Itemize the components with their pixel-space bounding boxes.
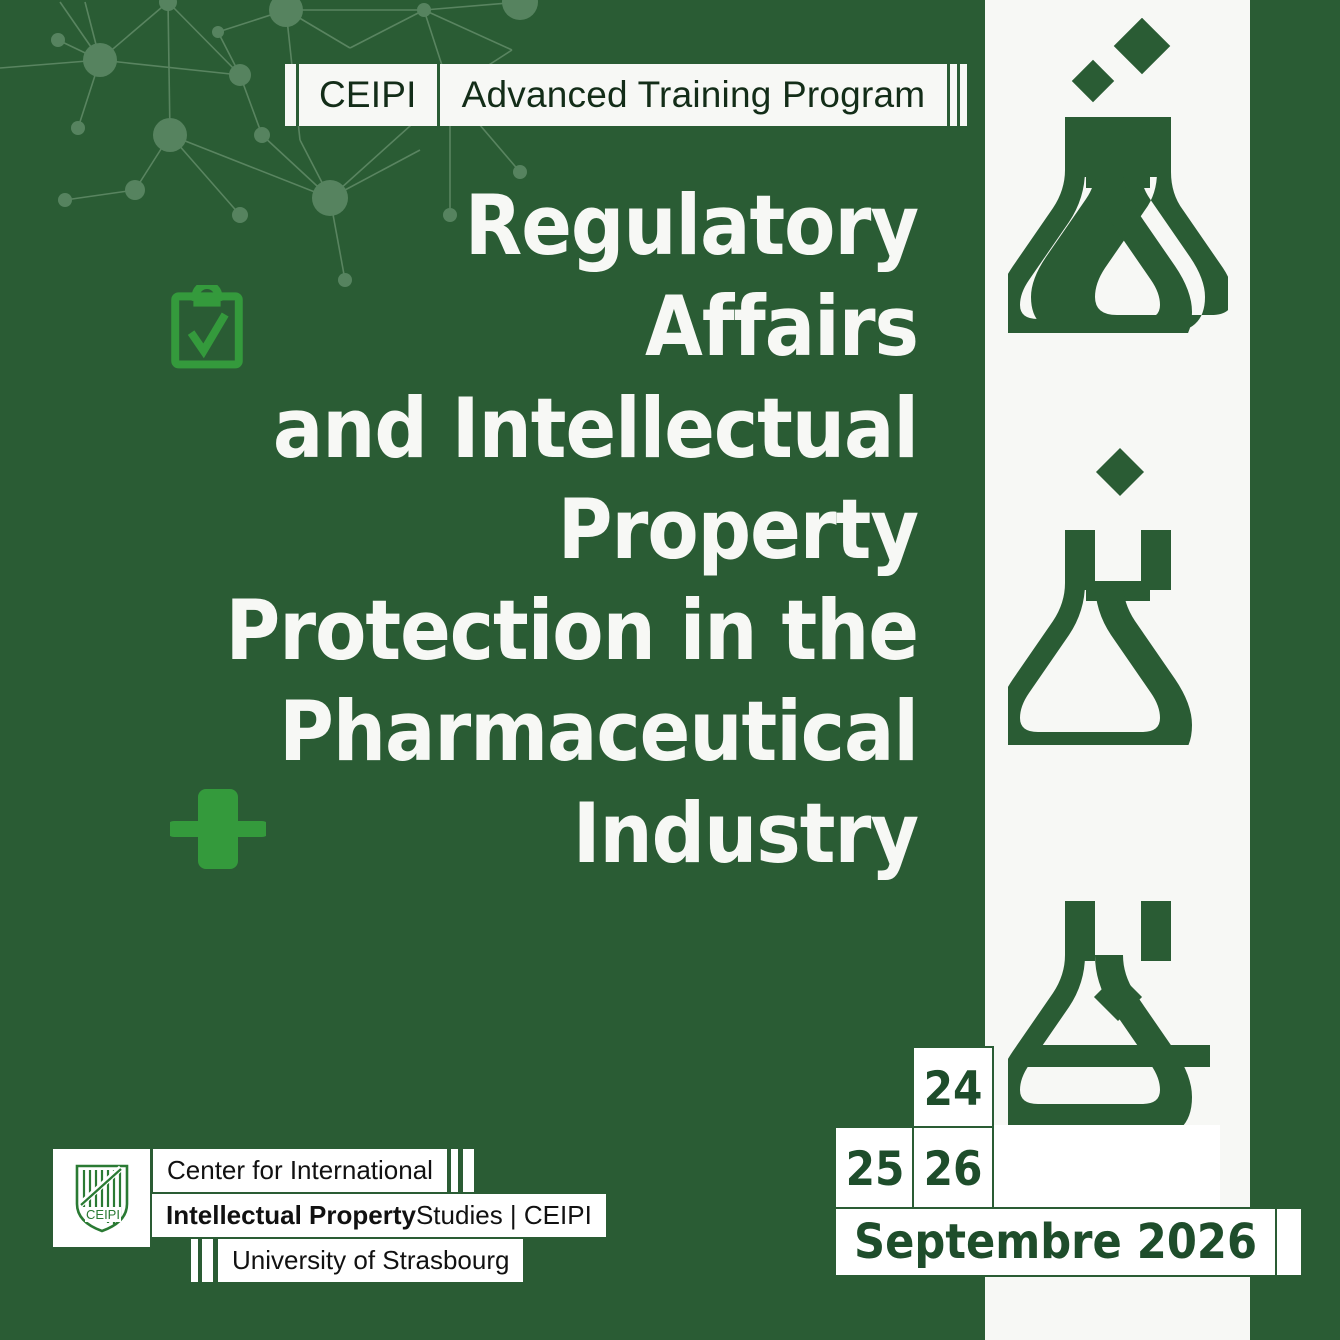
logo-row-3: University of Strasbourg [190,1238,607,1283]
logo-row1-strip-a [450,1148,459,1193]
title-line-7: Industry [573,783,918,884]
svg-text:CEIPI: CEIPI [86,1207,120,1222]
title-line-5: Protection in the [170,580,918,681]
title-line-2-row: Affairs [170,276,918,377]
flask-two-bubbles-icon [1008,18,1228,333]
date-day-26: 26 [912,1126,994,1212]
logo-row3-strip-a [190,1238,199,1283]
date-day-25: 25 [834,1126,916,1212]
logo-row-2: Intellectual Property Studies | CEIPI [151,1193,607,1238]
clipboard-check-icon [170,285,244,369]
date-day-24: 24 [912,1046,994,1132]
badge-right-strip-1 [950,64,957,126]
poster-canvas: CEIPI Advanced Training Program Regulato… [0,0,1340,1340]
title-line-1: Regulatory [170,175,918,276]
logo-row-1: Center for International [152,1148,607,1193]
medical-cross-icon [170,785,266,881]
title-line-2: Affairs [645,276,918,377]
date-month-row: Septembre 2026 [834,1207,1303,1277]
title-line-4: Property [170,479,918,580]
logo-line-university-of-strasbourg: University of Strasbourg [217,1238,524,1283]
header-badge: CEIPI Advanced Training Program [285,64,967,126]
logo-row3-strip-b [201,1238,214,1283]
badge-program-label: Advanced Training Program [440,64,948,126]
logo-row1-strip-b [462,1148,475,1193]
title-line-3: and Intellectual [170,378,918,479]
badge-org-label: CEIPI [299,64,437,126]
flask-inner-diamond-icon [1008,885,1228,1150]
ceipi-logo: CEIPI Center for International Intellect… [52,1148,607,1283]
ceipi-shield-logo-icon: CEIPI [71,1162,133,1234]
title-line-6: Pharmaceutical [170,681,918,782]
poster-title: Regulatory Affairs and Intellectual Prop… [170,175,918,884]
logo-line-intellectual-property: Intellectual Property Studies | CEIPI [151,1193,607,1238]
logo-shield-box: CEIPI [52,1148,151,1248]
logo-line2-rest: Studies | CEIPI [416,1200,592,1231]
title-line-7-row: Industry [170,783,918,884]
logo-line2-bold: Intellectual Property [166,1200,416,1231]
badge-right-strip-2 [960,64,967,126]
logo-text-lines: Center for International Intellectual Pr… [151,1148,607,1283]
badge-left-strip [285,64,296,126]
logo-line-center-international: Center for International [152,1148,448,1193]
date-month-trailing-strip [1277,1207,1303,1277]
date-month-year: Septembre 2026 [834,1207,1277,1277]
flask-one-bubble-icon [1008,445,1228,745]
